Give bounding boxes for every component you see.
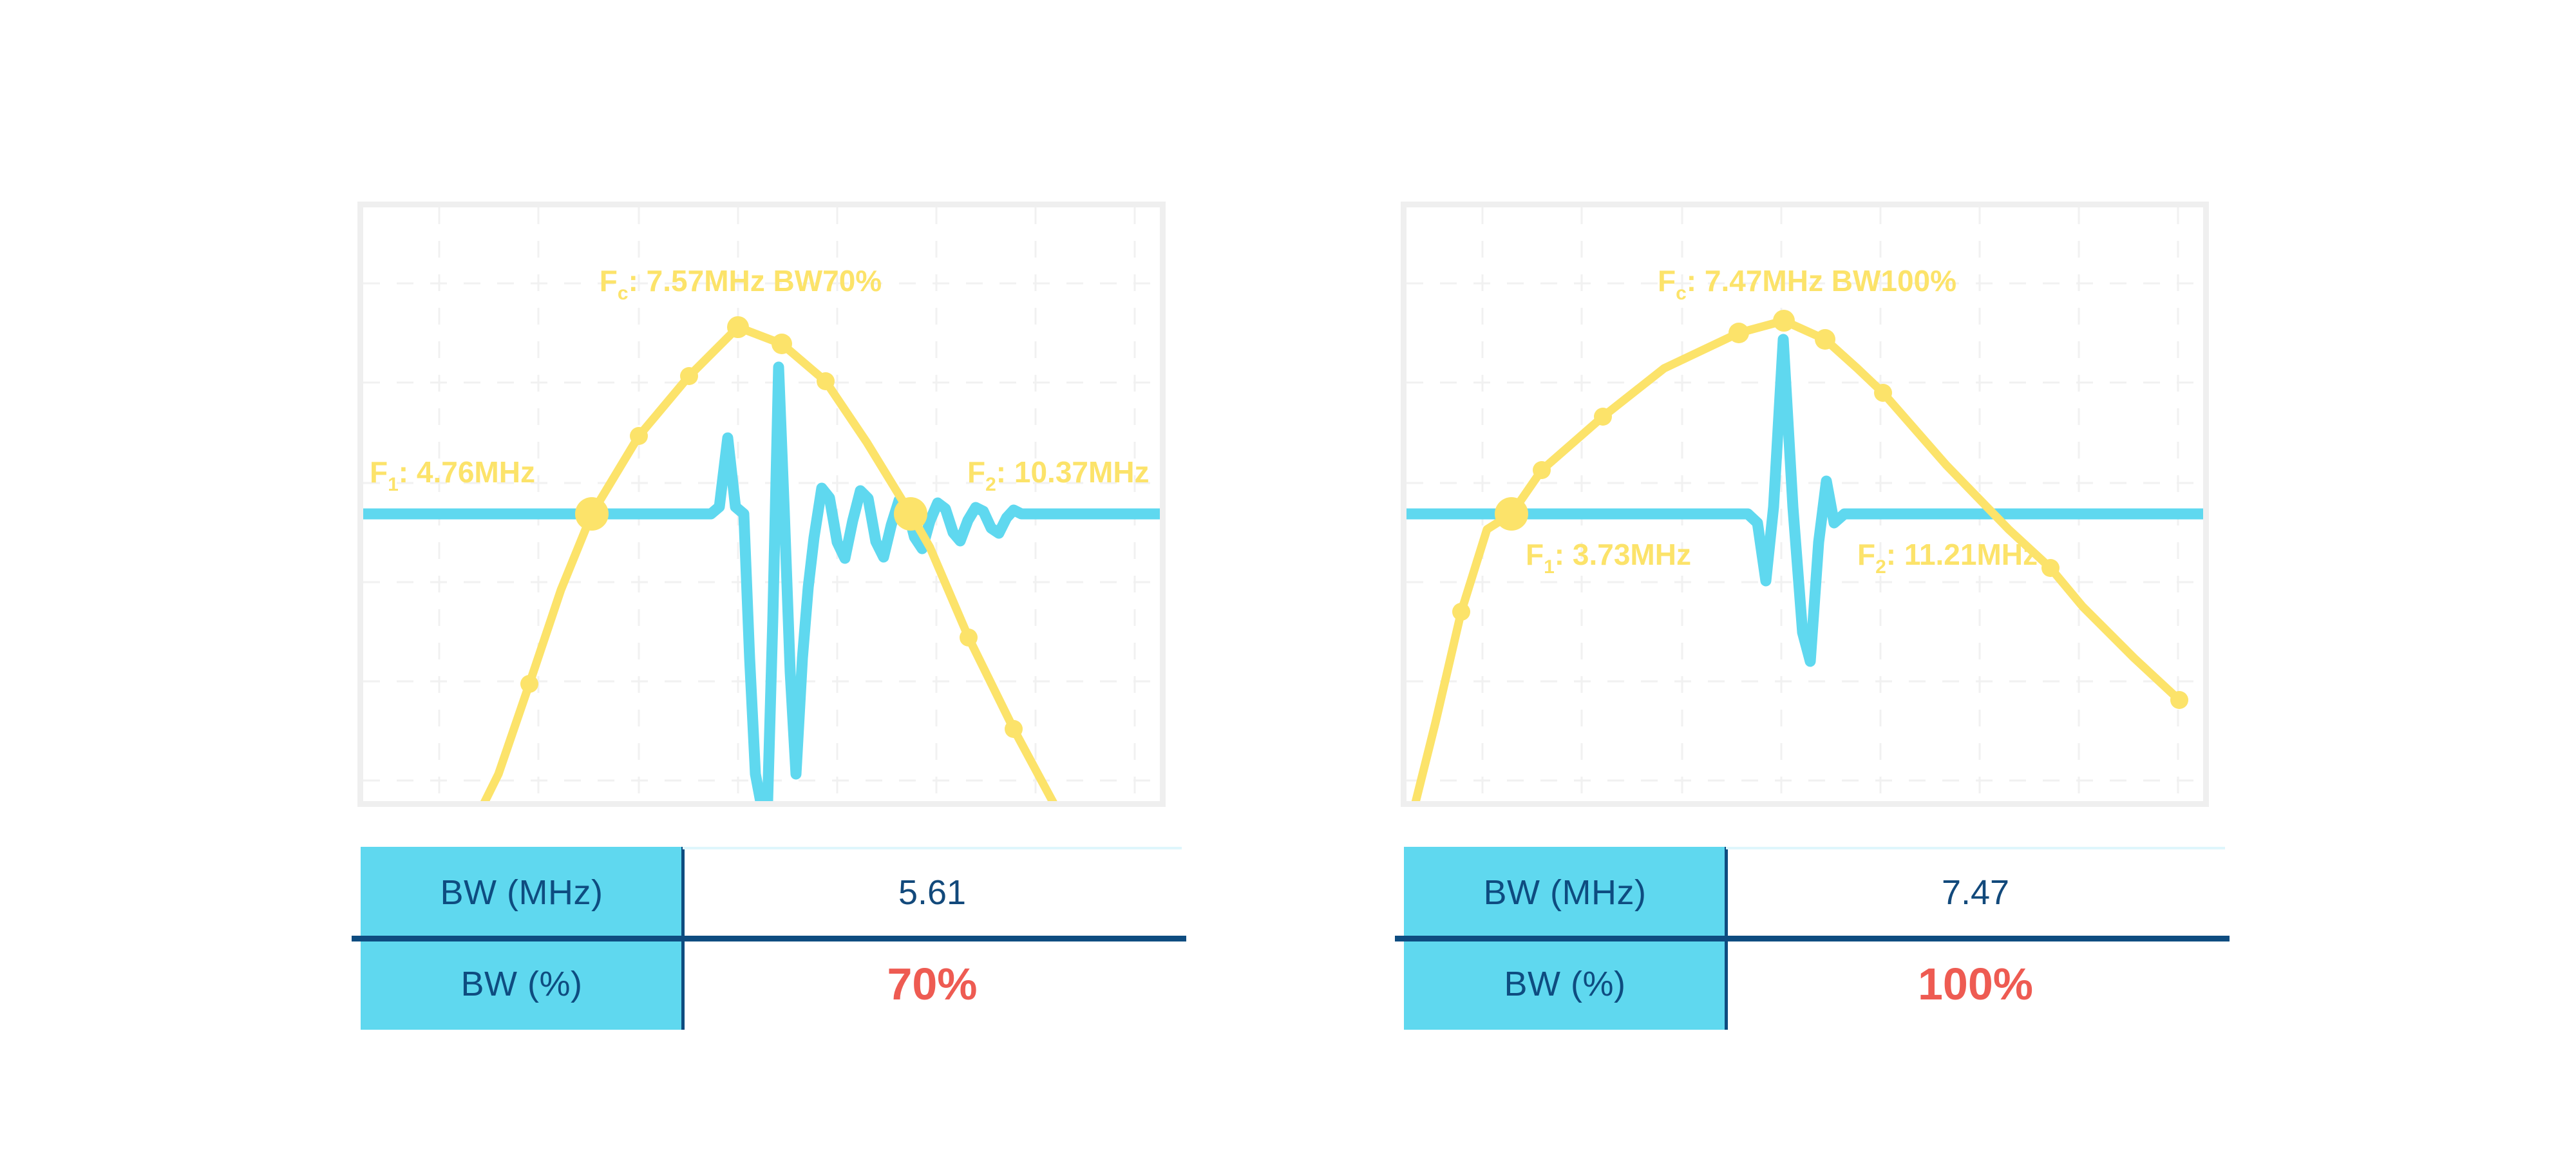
center-frequency-label-left: Fc: 7.57MHz BW70% <box>600 264 882 304</box>
spectrum-plot-left: Fc: 7.57MHz BW70% F1: 4.76MHz F2: 10.37M… <box>357 202 1166 807</box>
f1-label-left: F1: 4.76MHz <box>370 455 535 495</box>
table-row: BW (%) 100% <box>1404 938 2225 1030</box>
table-row: BW (%) 70% <box>361 938 1182 1030</box>
bandwidth-table-left: BW (MHz) 5.61 BW (%) 70% <box>361 847 1182 1030</box>
table-row: BW (MHz) 7.47 <box>1404 847 2225 938</box>
row-label-bw-pct: BW (%) <box>361 938 683 1030</box>
spectrum-plot-left-svg: Fc: 7.57MHz BW70% F1: 4.76MHz F2: 10.37M… <box>363 207 1160 801</box>
measurement-panel-right: Fc: 7.47MHz BW100% F1: 3.73MHz F2: 11.21… <box>1288 0 2383 1154</box>
row-label-bw-pct: BW (%) <box>1404 938 1726 1030</box>
f1-label-right: F1: 3.73MHz <box>1526 538 1691 578</box>
bandwidth-table-right: BW (MHz) 7.47 BW (%) 100% <box>1404 847 2225 1030</box>
measurement-panel-left: Fc: 7.57MHz BW70% F1: 4.76MHz F2: 10.37M… <box>245 0 1340 1154</box>
screenshot-root: Fc: 7.57MHz BW70% F1: 4.76MHz F2: 10.37M… <box>0 0 2576 1154</box>
spectrum-plot-right-svg: Fc: 7.47MHz BW100% F1: 3.73MHz F2: 11.21… <box>1406 207 2203 801</box>
pulse-waveform-left <box>363 367 1160 801</box>
table-row-divider <box>352 936 1186 941</box>
f2-label-left: F2: 10.37MHz <box>967 455 1150 495</box>
table-top-rule <box>1726 847 2225 849</box>
f2-label-right: F2: 11.21MHz <box>1857 538 2038 578</box>
row-value-bw-pct: 70% <box>683 938 1182 1030</box>
spectrum-plot-right: Fc: 7.47MHz BW100% F1: 3.73MHz F2: 11.21… <box>1401 202 2209 807</box>
table-row: BW (MHz) 5.61 <box>361 847 1182 938</box>
table-row-divider <box>1395 936 2230 941</box>
row-label-bw-mhz: BW (MHz) <box>1404 847 1726 938</box>
center-frequency-label-right: Fc: 7.47MHz BW100% <box>1658 264 1956 304</box>
table-top-rule <box>683 847 1182 849</box>
row-value-bw-mhz: 5.61 <box>683 847 1182 938</box>
row-label-bw-mhz: BW (MHz) <box>361 847 683 938</box>
row-value-bw-pct: 100% <box>1726 938 2225 1030</box>
row-value-bw-mhz: 7.47 <box>1726 847 2225 938</box>
